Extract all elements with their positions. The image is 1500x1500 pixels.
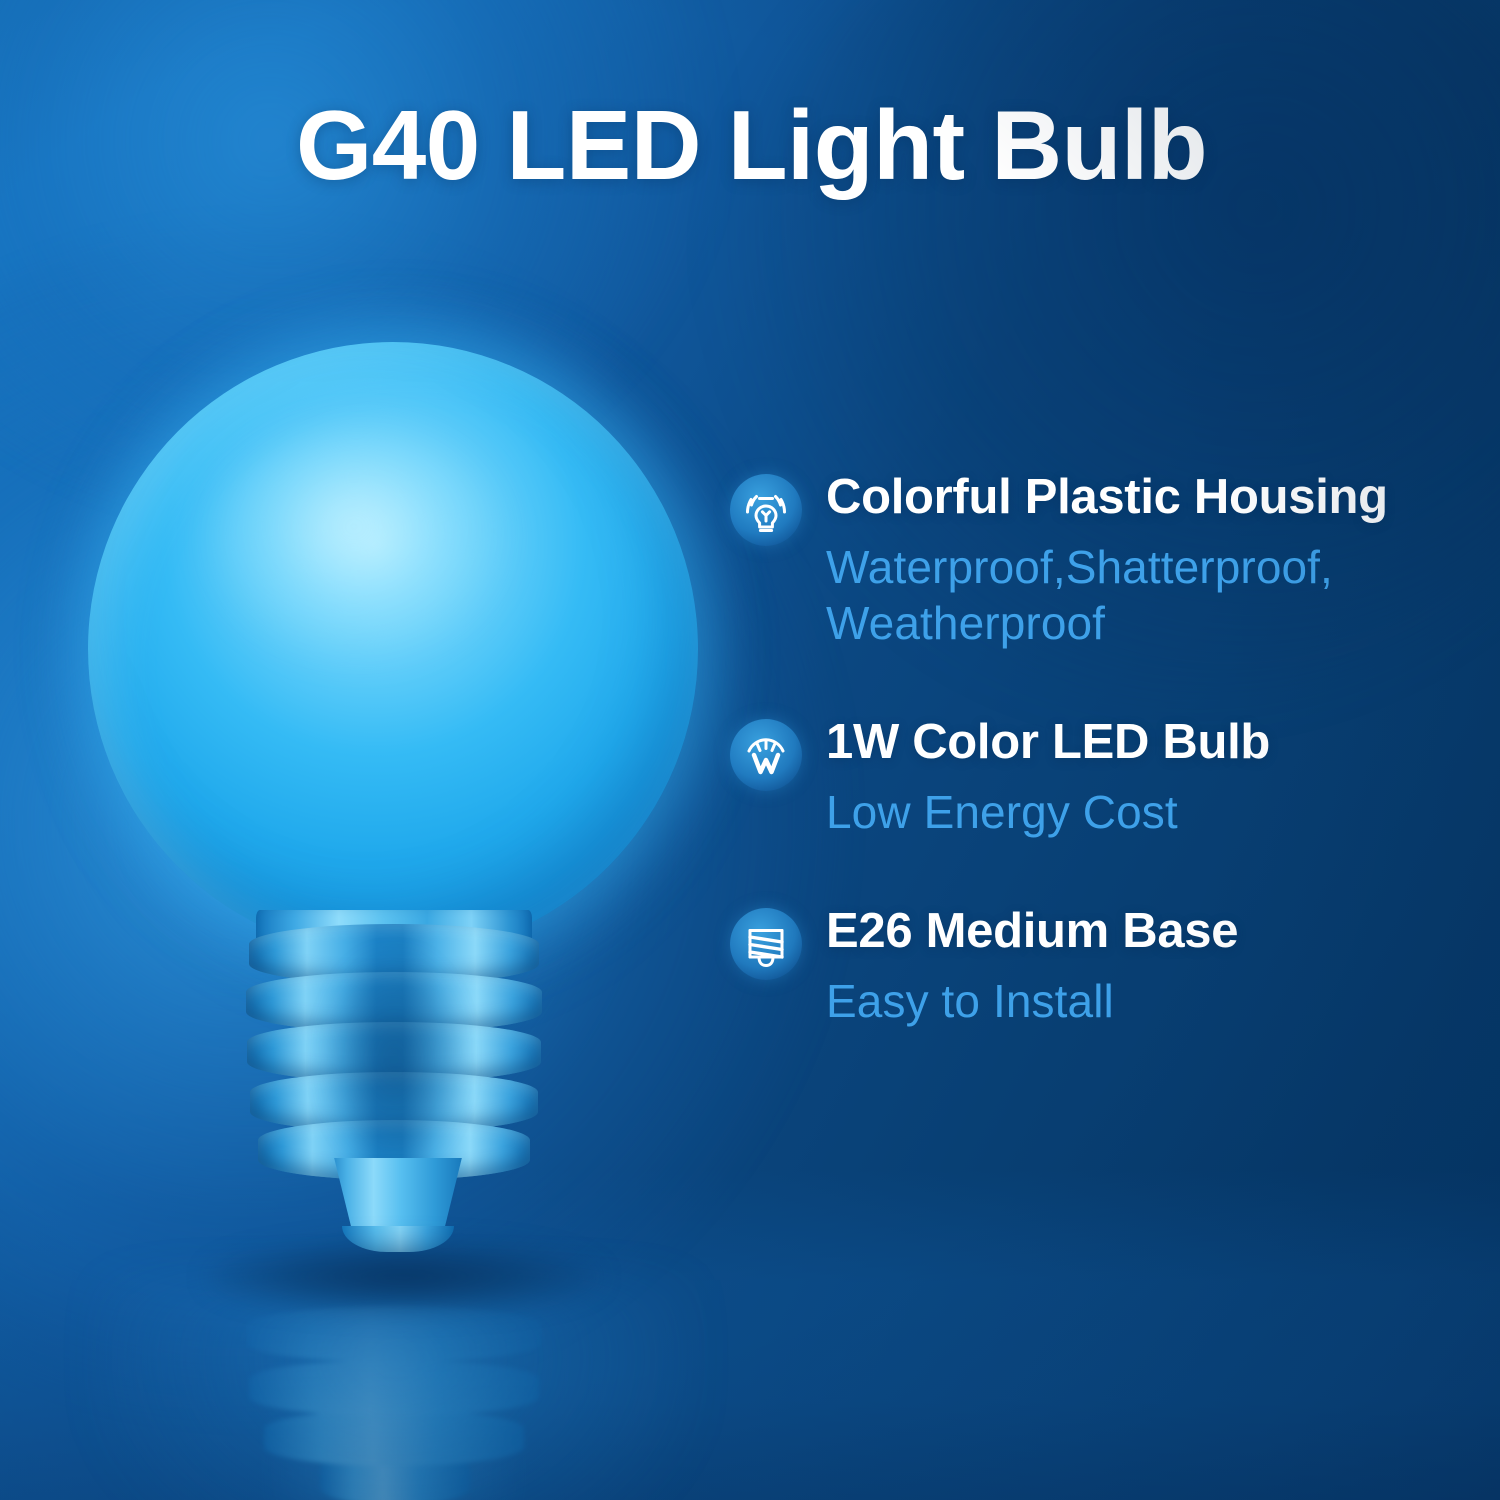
reflection-thread — [249, 1360, 539, 1416]
product-feature-graphic: G40 LED Light Bulb — [0, 0, 1500, 1500]
feature-subtext: Low Energy Cost — [826, 784, 1480, 840]
feature-heading: 1W Color LED Bulb — [826, 715, 1480, 770]
reflection-thread — [264, 1410, 524, 1466]
feature-subtext: Easy to Install — [826, 973, 1480, 1029]
base-shading — [324, 954, 464, 1164]
reflection-thread — [246, 1306, 542, 1362]
feature-list: Colorful Plastic Housing Waterproof,Shat… — [730, 470, 1480, 1029]
feature-item-housing: Colorful Plastic Housing Waterproof,Shat… — [730, 470, 1480, 651]
bulb-illustration — [60, 320, 740, 1330]
feature-heading: Colorful Plastic Housing — [826, 470, 1480, 525]
wattage-gauge-icon — [730, 719, 802, 791]
feature-heading: E26 Medium Base — [826, 904, 1480, 959]
bulb-reflection — [246, 1272, 542, 1500]
page-title: G40 LED Light Bulb — [296, 96, 1296, 194]
feature-item-base: E26 Medium Base Easy to Install — [730, 904, 1480, 1029]
bulb-icon — [730, 474, 802, 546]
screw-base-icon — [730, 908, 802, 980]
feature-item-wattage: 1W Color LED Bulb Low Energy Cost — [730, 715, 1480, 840]
bulb-highlight — [210, 430, 510, 660]
feature-subtext: Waterproof,Shatterproof,Weatherproof — [826, 539, 1480, 651]
